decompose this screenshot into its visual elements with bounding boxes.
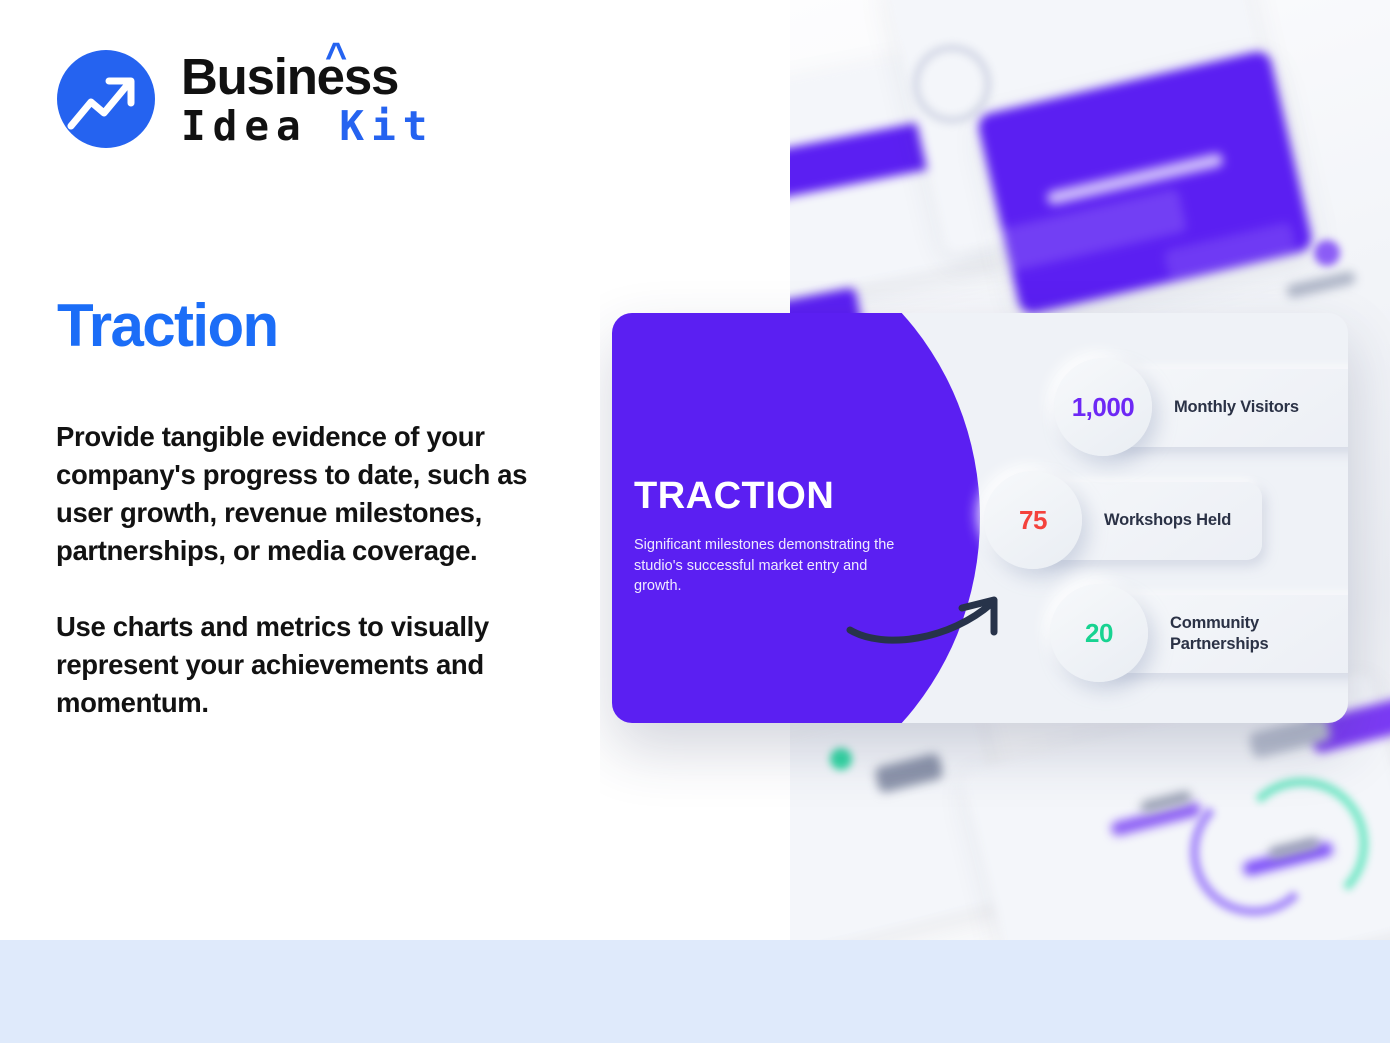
purple-blob-shape <box>612 313 980 723</box>
brand-wordmark: Business ^ Idea Kit <box>181 51 434 147</box>
brand-name-idea: Idea <box>181 102 339 150</box>
traction-slide-preview-card[interactable]: TRACTION Significant milestones demonstr… <box>612 313 1348 723</box>
page-title: Traction <box>57 296 278 356</box>
brand-name-line2: Idea Kit <box>181 106 434 147</box>
background-dot <box>1314 240 1340 266</box>
metric-label: Workshops Held <box>1104 510 1231 531</box>
background-ring <box>912 44 992 124</box>
metric-value: 20 <box>1085 618 1113 649</box>
metric-value: 1,000 <box>1072 392 1135 423</box>
growth-chart-arrow-icon <box>57 50 155 148</box>
metric-value-circle: 75 <box>984 471 1082 569</box>
slide-title: TRACTION <box>634 477 834 515</box>
body-paragraph-2: Use charts and metrics to visually repre… <box>56 608 571 722</box>
footer-band <box>0 940 1390 1043</box>
body-paragraph-1: Provide tangible evidence of your compan… <box>56 418 571 570</box>
brand-logo: Business ^ Idea Kit <box>57 50 434 148</box>
metric-label: Monthly Visitors <box>1174 397 1299 418</box>
brand-accent-caret-icon: ^ <box>325 38 346 76</box>
brand-name-kit: Kit <box>339 102 434 150</box>
metric-value: 75 <box>1019 505 1047 536</box>
body-copy: Provide tangible evidence of your compan… <box>56 418 571 722</box>
brand-name-line1: Business ^ <box>181 51 434 102</box>
brand-name-business: Business <box>181 48 398 105</box>
metric-value-circle: 1,000 <box>1054 358 1152 456</box>
background-dot <box>830 748 852 770</box>
slide-page: Business ^ Idea Kit Traction Provide tan… <box>0 0 1390 1043</box>
metric-label: Community Partnerships <box>1170 613 1268 655</box>
left-content-column: Business ^ Idea Kit Traction Provide tan… <box>0 0 600 940</box>
metric-value-circle: 20 <box>1050 584 1148 682</box>
metrics-list: Monthly Visitors 1,000 Workshops Held 75… <box>972 313 1348 723</box>
